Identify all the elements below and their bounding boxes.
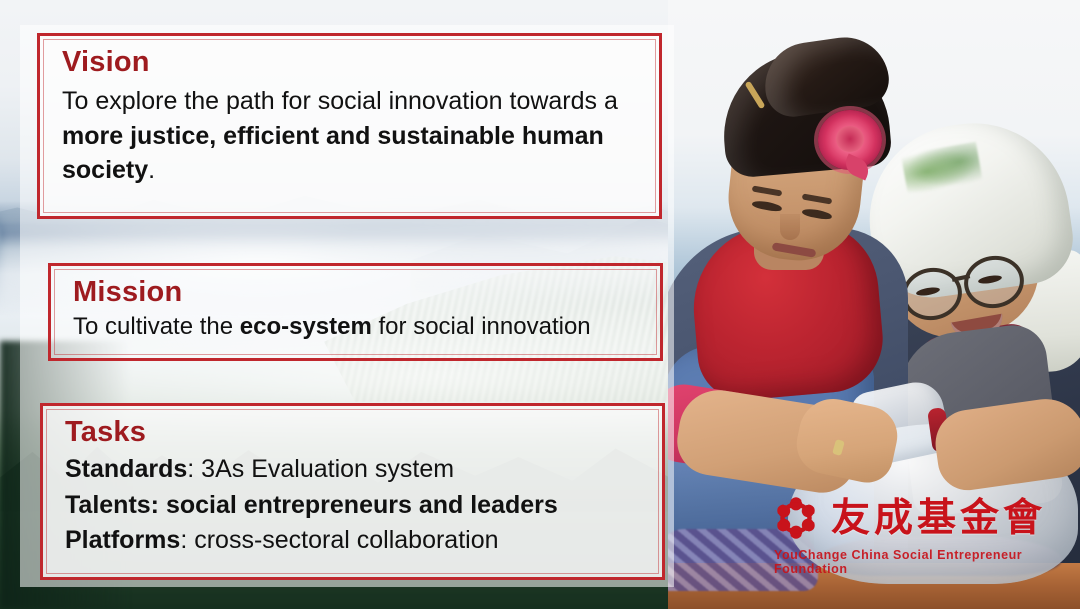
tasks-box: Tasks Standards: 3As Evaluation system T… bbox=[40, 403, 665, 580]
vision-line2-prefix: a bbox=[604, 87, 618, 115]
task-value: social entrepreneurs and leaders bbox=[166, 491, 558, 519]
mission-line-prefix: To cultivate the bbox=[73, 313, 240, 340]
task-label: Talents: bbox=[65, 491, 159, 519]
vision-line2-bold: more justice, efficient and sustainable bbox=[62, 122, 515, 150]
tasks-body: Standards: 3As Evaluation system Talents… bbox=[65, 452, 640, 559]
mission-line-bold: eco-system bbox=[240, 313, 372, 340]
vision-line1: To explore the path for social innovatio… bbox=[62, 87, 597, 115]
woman-left-nose bbox=[780, 214, 800, 240]
task-line: Standards: 3As Evaluation system bbox=[65, 452, 640, 488]
mission-box: Mission To cultivate the eco-system for … bbox=[48, 263, 663, 361]
youchange-circle-emblem-icon bbox=[770, 492, 822, 544]
task-value: 3As Evaluation system bbox=[201, 455, 454, 483]
mission-heading: Mission bbox=[73, 276, 638, 308]
vision-line3-suffix: . bbox=[148, 156, 155, 184]
task-value: cross-sectoral collaboration bbox=[194, 526, 498, 554]
vision-heading: Vision bbox=[62, 46, 637, 78]
mission-line-suffix: for social innovation bbox=[372, 313, 591, 340]
logo-english-name: YouChange China Social Entrepreneur Foun… bbox=[774, 548, 1072, 576]
task-separator: : bbox=[180, 526, 194, 554]
task-line: Talents: social entrepreneurs and leader… bbox=[65, 488, 640, 524]
vision-body: To explore the path for social innovatio… bbox=[62, 84, 637, 188]
slide: Vision To explore the path for social in… bbox=[0, 0, 1080, 609]
mission-body: To cultivate the eco-system for social i… bbox=[73, 310, 638, 343]
task-label: Standards bbox=[65, 455, 187, 483]
task-line: Platforms: cross-sectoral collaboration bbox=[65, 523, 640, 559]
foundation-logo: 友成基金會 YouChange China Social Entrepreneu… bbox=[770, 492, 1072, 568]
logo-row: 友成基金會 bbox=[770, 492, 1046, 544]
tasks-heading: Tasks bbox=[65, 416, 640, 448]
logo-chinese-name: 友成基金會 bbox=[831, 499, 1046, 538]
task-separator: : bbox=[187, 455, 201, 483]
vision-box: Vision To explore the path for social in… bbox=[37, 33, 662, 219]
task-label: Platforms bbox=[65, 526, 180, 554]
task-separator bbox=[159, 491, 166, 519]
